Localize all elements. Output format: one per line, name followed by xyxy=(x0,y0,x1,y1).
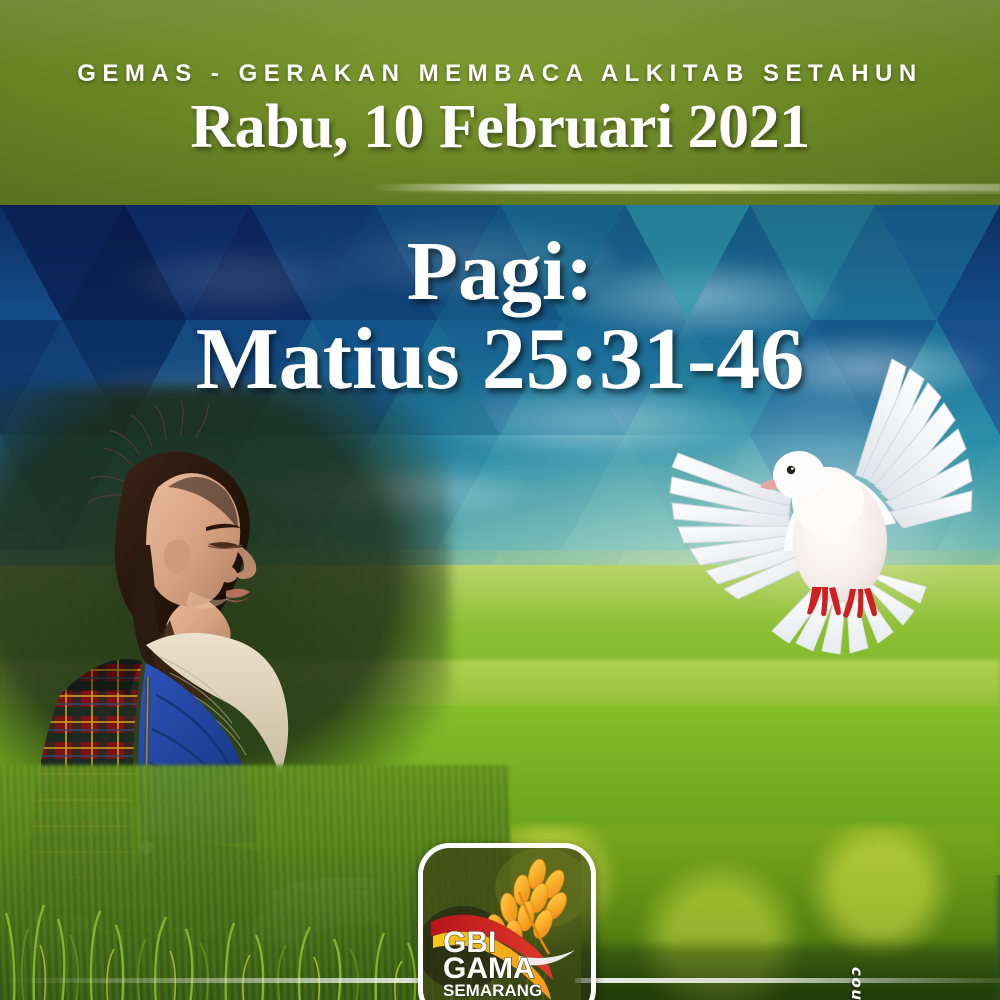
verse-reference: Matius 25:31-46 xyxy=(0,316,1000,404)
poster-canvas: GEMAS - GERAKAN MEMBACA ALKITAB SETAHUN … xyxy=(0,0,1000,1000)
logo-line3: SEMARANG xyxy=(443,981,542,1000)
verse-time-label: Pagi: xyxy=(0,230,1000,314)
header-divider-rule-secondary xyxy=(380,191,1000,194)
divider-line-left xyxy=(0,978,420,983)
divider-line-right xyxy=(575,978,1000,983)
header-divider-rule xyxy=(370,184,1000,191)
verse-block: Pagi: Matius 25:31-46 xyxy=(0,230,1000,404)
gbi-gama-logo-badge[interactable]: GBI GAMA SEMARANG xyxy=(418,843,596,1000)
logo-artwork: GBI GAMA SEMARANG xyxy=(423,848,581,1000)
header-band: GEMAS - GERAKAN MEMBACA ALKITAB SETAHUN … xyxy=(0,0,1000,205)
header-date-text: Rabu, 10 Februari 2021 xyxy=(0,92,1000,163)
header-kicker-text: GEMAS - GERAKAN MEMBACA ALKITAB SETAHUN xyxy=(0,60,1000,88)
credit-text: courtesy of google xyxy=(848,967,866,1000)
photo-stage: Pagi: Matius 25:31-46 xyxy=(0,205,1000,1000)
